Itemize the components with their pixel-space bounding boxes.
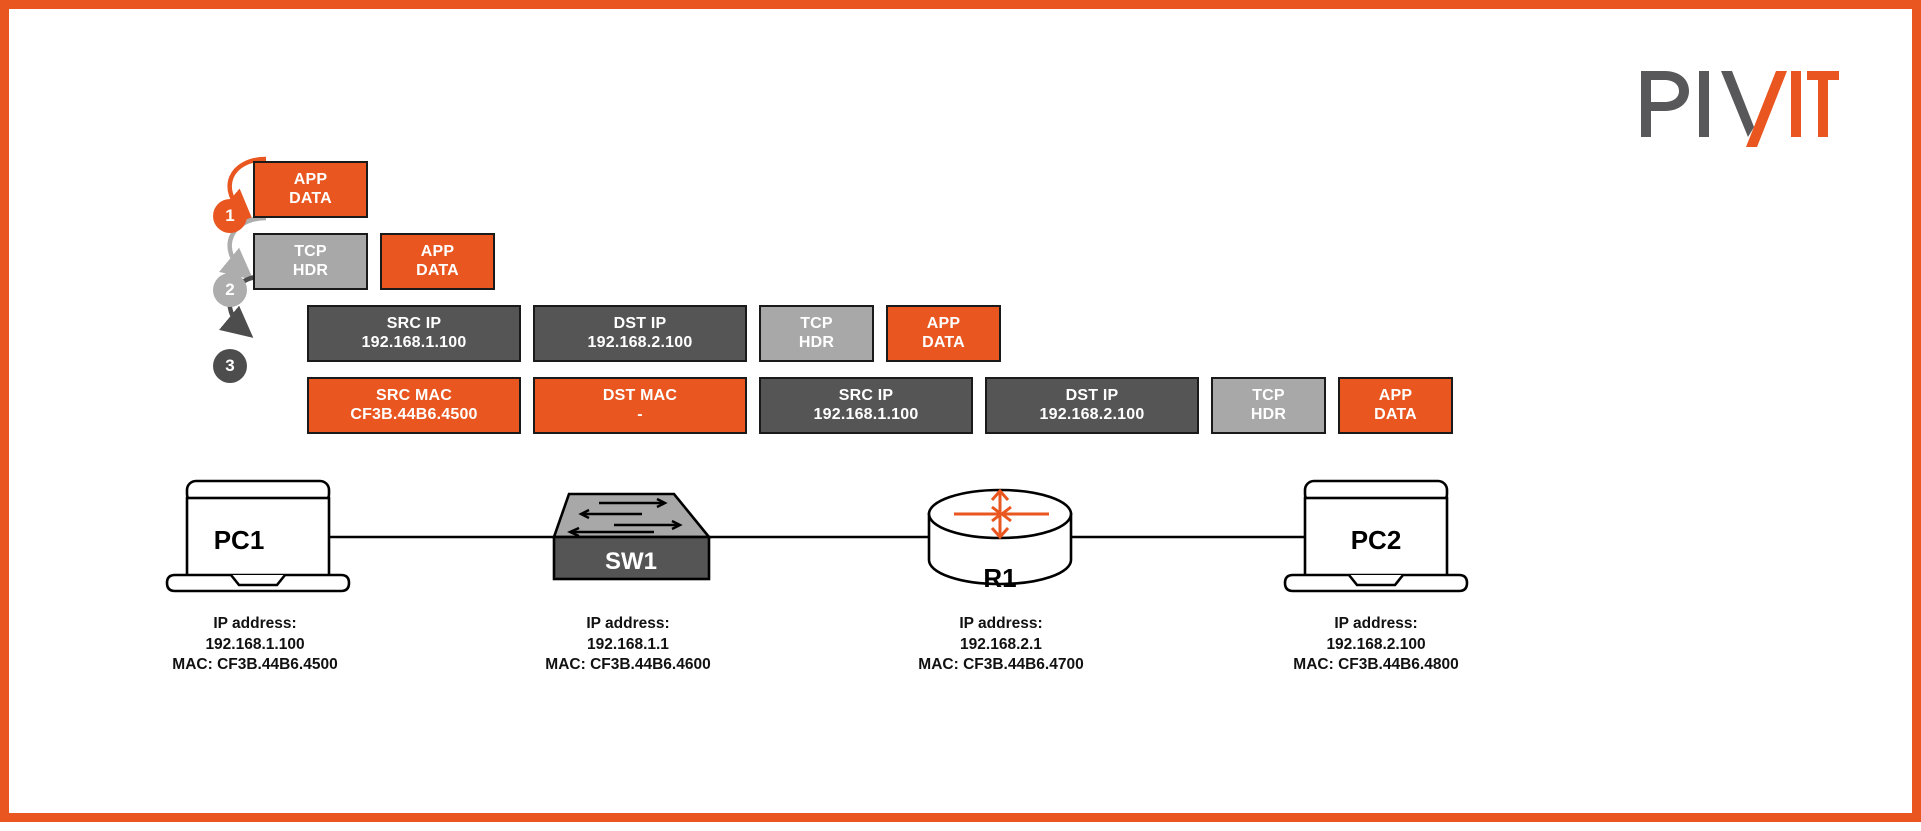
sw1-ip-caption: IP address:	[458, 614, 798, 635]
r1-ip-value: 192.168.2.1	[831, 635, 1171, 656]
pc1-trackpad-notch	[231, 575, 285, 585]
pc2-mac-value: MAC: CF3B.44B6.4800	[1206, 655, 1546, 676]
pc2-ip-caption: IP address:	[1206, 614, 1546, 635]
device-sw1[interactable]: SW1	[554, 494, 709, 579]
device-caption-pc1: IP address: 192.168.1.100 MAC: CF3B.44B6…	[85, 614, 425, 676]
r1-ip-caption: IP address:	[831, 614, 1171, 635]
device-caption-sw1: IP address: 192.168.1.1 MAC: CF3B.44B6.4…	[458, 614, 798, 676]
pc1-ip-caption: IP address:	[85, 614, 425, 635]
device-r1[interactable]: R1	[929, 490, 1071, 593]
pc1-mac-value: MAC: CF3B.44B6.4500	[85, 655, 425, 676]
pc1-ip-value: 192.168.1.100	[85, 635, 425, 656]
sw1-mac-value: MAC: CF3B.44B6.4600	[458, 655, 798, 676]
sw1-top-face	[554, 494, 709, 537]
network-topology: PC1 SW1	[9, 9, 1921, 831]
diagram-canvas: 1 2 3 APP DATA TCP HDR APP DATA SRC IP 1…	[0, 0, 1921, 822]
pc2-label: PC2	[1351, 525, 1402, 555]
pc1-label: PC1	[214, 525, 265, 555]
r1-label: R1	[983, 563, 1016, 593]
device-pc2[interactable]: PC2	[1285, 481, 1467, 591]
pc2-ip-value: 192.168.2.100	[1206, 635, 1546, 656]
device-caption-r1: IP address: 192.168.2.1 MAC: CF3B.44B6.4…	[831, 614, 1171, 676]
device-caption-pc2: IP address: 192.168.2.100 MAC: CF3B.44B6…	[1206, 614, 1546, 676]
sw1-label: SW1	[605, 548, 657, 575]
pc2-trackpad-notch	[1349, 575, 1403, 585]
r1-mac-value: MAC: CF3B.44B6.4700	[831, 655, 1171, 676]
sw1-ip-value: 192.168.1.1	[458, 635, 798, 656]
device-pc1[interactable]: PC1	[167, 481, 349, 591]
